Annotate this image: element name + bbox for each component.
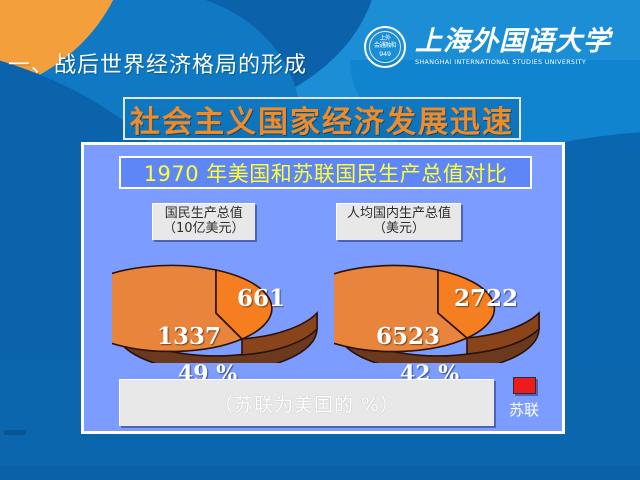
slide-heading: 一、战后世界经济格局的形成 <box>8 47 307 79</box>
seal-chinese-mid: 会通融和 <box>374 43 396 49</box>
university-seal-icon: 上外 会通融和 949 <box>364 26 406 68</box>
pie-value-ussr: 661 <box>237 285 285 312</box>
series-label-subtitle: （美元） <box>373 222 425 237</box>
slide-canvas: 一、战后世界经济格局的形成 上外 会通融和 949 上海外国语大学 SHANGH… <box>0 0 640 480</box>
series-label-subtitle: （10亿美元） <box>163 222 245 237</box>
university-name-cn: 上海外国语大学 <box>415 28 611 55</box>
title-banner: 社会主义国家经济发展迅速 <box>123 97 521 140</box>
chart-title-text: 1970 年美国和苏联国民生产总值对比 <box>144 158 508 188</box>
background-lower-band-edge <box>0 466 640 480</box>
chart-panel: 1970 年美国和苏联国民生产总值对比 国民生产总值 （10亿美元） 人均国内生… <box>81 142 565 434</box>
university-name-en: SHANGHAI INTERNATIONAL STUDIES UNIVERSIT… <box>415 58 611 66</box>
university-logo-text: 上海外国语大学 SHANGHAI INTERNATIONAL STUDIES U… <box>415 28 611 66</box>
chart-note-text: （苏联为美国的 %） <box>214 390 400 417</box>
seal-year: 949 <box>379 50 391 58</box>
pie-chart-gdp-per-capita: 2722 6523 42 % <box>334 263 542 363</box>
background-scuff-mark <box>4 430 26 435</box>
legend-swatch-icon <box>513 377 536 394</box>
series-label-box-gdp-per-capita: 人均国内生产总值 （美元） <box>336 203 461 240</box>
legend-label: 苏联 <box>509 399 539 420</box>
pie-value-us: 1337 <box>157 323 221 350</box>
pie-value-ussr: 2722 <box>454 285 518 312</box>
chart-note-bar: （苏联为美国的 %） <box>119 379 494 426</box>
series-label-title: 国民生产总值 <box>165 207 243 222</box>
series-label-box-gnp: 国民生产总值 （10亿美元） <box>152 203 255 240</box>
chart-legend: 苏联 <box>509 377 539 420</box>
chart-title-box: 1970 年美国和苏联国民生产总值对比 <box>119 156 532 189</box>
university-logo: 上外 会通融和 949 上海外国语大学 SHANGHAI INTERNATION… <box>364 26 611 68</box>
series-label-title: 人均国内生产总值 <box>347 207 451 222</box>
title-banner-text: 社会主义国家经济发展迅速 <box>130 97 514 141</box>
pie-chart-gnp: 661 1337 49 % <box>112 263 320 363</box>
pie-value-us: 6523 <box>376 323 440 350</box>
